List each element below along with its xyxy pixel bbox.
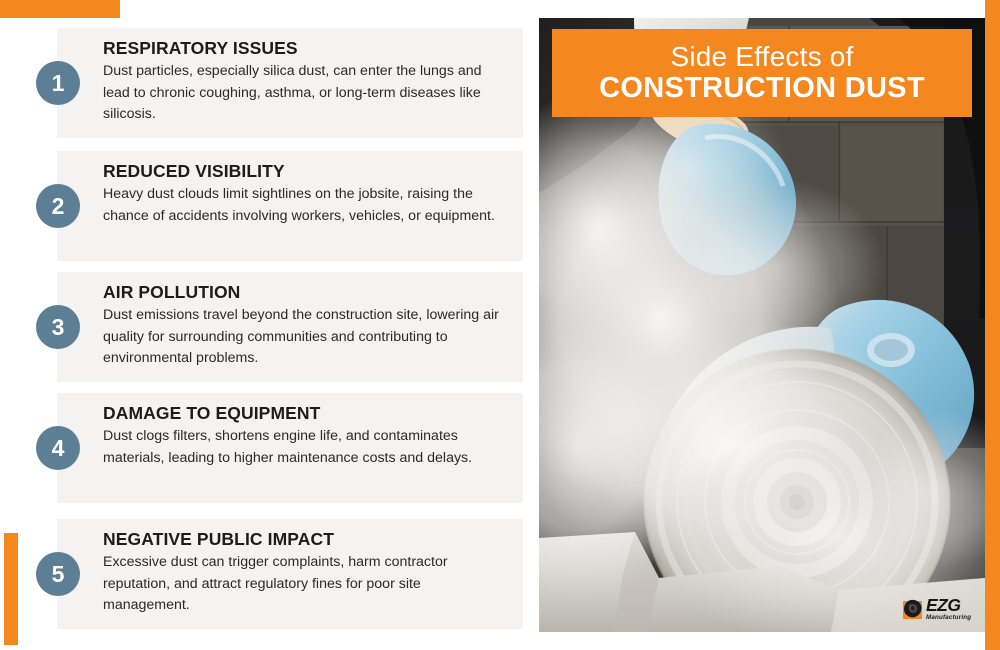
title-line-2: CONSTRUCTION DUST	[599, 72, 925, 106]
list-item: 4 DAMAGE TO EQUIPMENT Dust clogs filters…	[57, 393, 523, 503]
item-body: Dust particles, especially silica dust, …	[103, 61, 507, 126]
item-title: RESPIRATORY ISSUES	[103, 38, 507, 58]
ezg-logo-mark-icon	[901, 597, 925, 621]
item-number-badge: 2	[36, 184, 80, 228]
item-title: NEGATIVE PUBLIC IMPACT	[103, 529, 507, 549]
item-title: AIR POLLUTION	[103, 282, 507, 302]
item-title: DAMAGE TO EQUIPMENT	[103, 403, 507, 423]
item-body: Dust clogs filters, shortens engine life…	[103, 426, 507, 469]
item-body: Excessive dust can trigger complaints, h…	[103, 552, 507, 617]
item-body: Dust emissions travel beyond the constru…	[103, 305, 507, 370]
logo-tagline: Manufacturing	[926, 615, 971, 621]
item-body: Heavy dust clouds limit sightlines on th…	[103, 184, 507, 227]
item-number-badge: 1	[36, 61, 80, 105]
logo-name: EZG	[926, 597, 971, 615]
side-effects-list: 1 RESPIRATORY ISSUES Dust particles, esp…	[0, 0, 539, 650]
title-line-1: Side Effects of	[670, 41, 853, 72]
list-item: 3 AIR POLLUTION Dust emissions travel be…	[57, 272, 523, 382]
item-number-badge: 4	[36, 426, 80, 470]
item-number-badge: 3	[36, 305, 80, 349]
list-item: 5 NEGATIVE PUBLIC IMPACT Excessive dust …	[57, 519, 523, 629]
logo-wordmark: EZG Manufacturing	[926, 597, 971, 622]
ezg-manufacturing-logo: EZG Manufacturing	[901, 594, 979, 624]
list-item: 1 RESPIRATORY ISSUES Dust particles, esp…	[57, 28, 523, 138]
item-title: REDUCED VISIBILITY	[103, 161, 507, 181]
list-item: 2 REDUCED VISIBILITY Heavy dust clouds l…	[57, 151, 523, 261]
infographic-canvas: Side Effects of CONSTRUCTION DUST EZG Ma…	[0, 0, 1000, 650]
item-number-badge: 5	[36, 552, 80, 596]
title-banner: Side Effects of CONSTRUCTION DUST	[552, 29, 972, 117]
accent-bar-right	[985, 0, 1000, 650]
